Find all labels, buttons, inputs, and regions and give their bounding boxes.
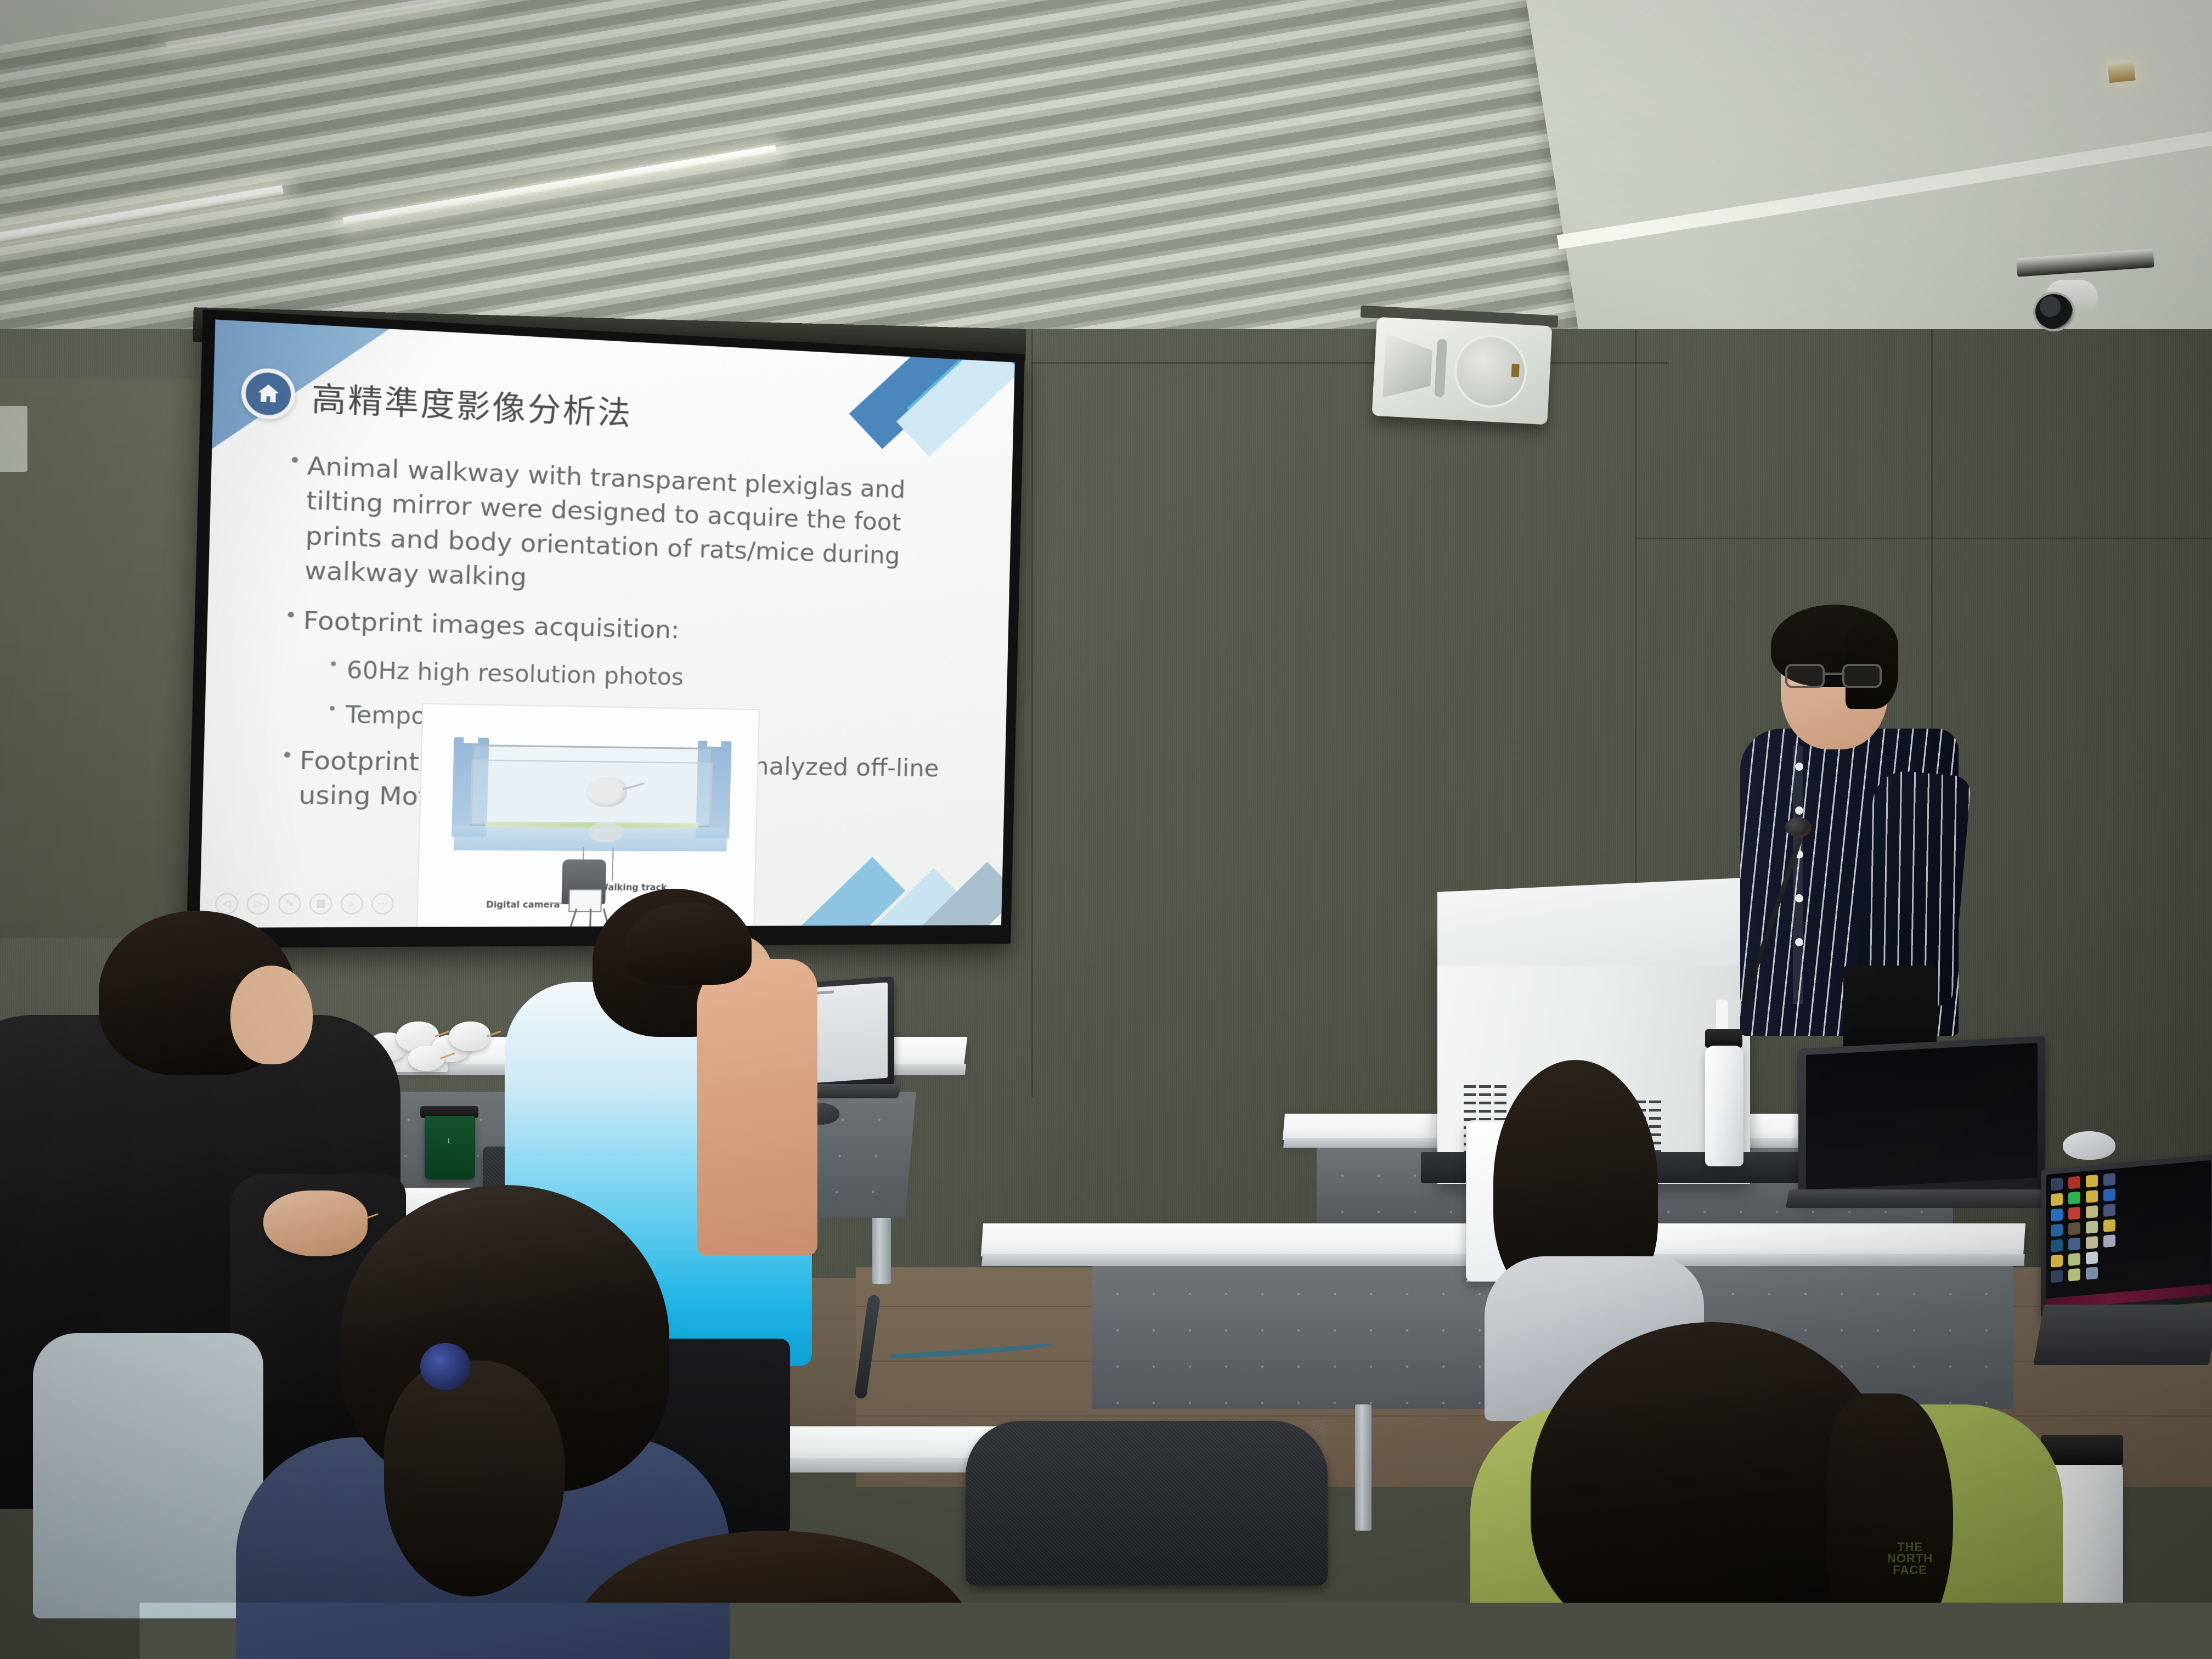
laptop-base-asus[interactable] [2033,1305,2212,1365]
speaker-port [1434,339,1447,398]
water-bottle [1705,1046,1743,1166]
slide-sub-bullet: 60Hz high resolution photos [325,654,969,698]
attendee-behind-screen-hair [625,902,752,985]
speaker-led [1511,364,1520,377]
eyeglass-bridge [1824,673,1843,675]
bottle-straw [1716,1000,1728,1032]
lecture-hall-photo: 高精準度影像分析法 Animal walkway with transparen… [0,0,2212,1659]
laptop-grey[interactable] [1798,1036,2045,1203]
attendee-blue-polo-arm [697,959,817,1255]
leader-line-track [612,848,614,881]
more-options-icon[interactable]: ⋯ [371,893,394,914]
shirt-button [1795,806,1803,815]
all-slides-icon[interactable]: ▦ [309,893,332,915]
shirt-button [1795,763,1803,771]
mouse-figurine [449,1022,490,1051]
laptop-screen [1806,1043,2038,1190]
computer-mouse[interactable] [2063,1131,2115,1160]
apparatus-figure: Mirror Walking track Digital camera [416,703,760,928]
laptop-screen-asus [2046,1160,2211,1310]
mouse-figurine [408,1046,444,1071]
camera-screen [568,889,602,912]
hair-tie-charm [420,1343,471,1390]
pa-speaker [1372,317,1553,425]
eyeglasses [1785,664,1882,689]
bottle-cap [1705,1029,1742,1048]
presenter-shirt-placket [1793,746,1803,1004]
projection-screen: 高精準度影像分析法 Animal walkway with transparen… [186,309,1025,948]
pen-tool-icon[interactable]: ✎ [278,893,301,915]
presentation-controls[interactable]: ◁ ▷ ✎ ▦ ⌕ ⋯ [215,893,394,915]
eyeglass-lens-left [1785,664,1825,688]
walkway-apparatus [452,733,732,848]
slide-bullet: Animal walkway with transparent plexigla… [283,448,974,608]
previous-slide-icon[interactable]: ◁ [215,893,239,915]
coffee-cup: L [425,1116,475,1180]
desktop-icons[interactable] [2051,1173,2118,1283]
mouse-illustration [585,777,628,807]
figure-label-digital-camera: Digital camera [486,900,560,910]
wall-seam [1031,362,1668,364]
north-face-logo: THENORTHFACE [1887,1542,1933,1576]
ptz-camera [2030,273,2100,335]
desk-leg [1355,1404,1372,1531]
zoom-icon[interactable]: ⌕ [340,893,363,914]
attendee-black-hoodie-lower [33,1333,263,1618]
chair [966,1421,1328,1585]
tripod-leg [589,909,591,928]
slide: 高精準度影像分析法 Animal walkway with transparen… [199,319,1014,928]
leader-line-camera [550,903,563,904]
attendee-hand [263,1190,368,1256]
wall-seam [1031,329,1033,1097]
slide-bullet: Footprint images acquisition: [281,603,970,655]
eyeglass-lens-right [1842,664,1882,688]
microphone-capsule [1785,817,1812,837]
coffee-cup-label: L [448,1137,452,1145]
shirt-button [1795,894,1803,902]
attendee-black-hoodie-head [230,966,313,1064]
wall-fixture [0,406,27,472]
camera-lens [2033,292,2075,331]
laptop-base[interactable] [1786,1189,2058,1208]
wall-seam [1635,538,2212,539]
speaker-horn [1383,334,1433,400]
home-icon [241,367,296,420]
shirt-button [1795,938,1803,946]
laptop-asus[interactable] [2041,1154,2212,1317]
slide-title: 高精準度影像分析法 [311,372,633,434]
ceiling-downlight [2106,59,2137,84]
slide-title-row: 高精準度影像分析法 [241,367,633,435]
next-slide-icon[interactable]: ▷ [247,893,270,915]
attendee-north-face-hair-right [1827,1393,1953,1657]
